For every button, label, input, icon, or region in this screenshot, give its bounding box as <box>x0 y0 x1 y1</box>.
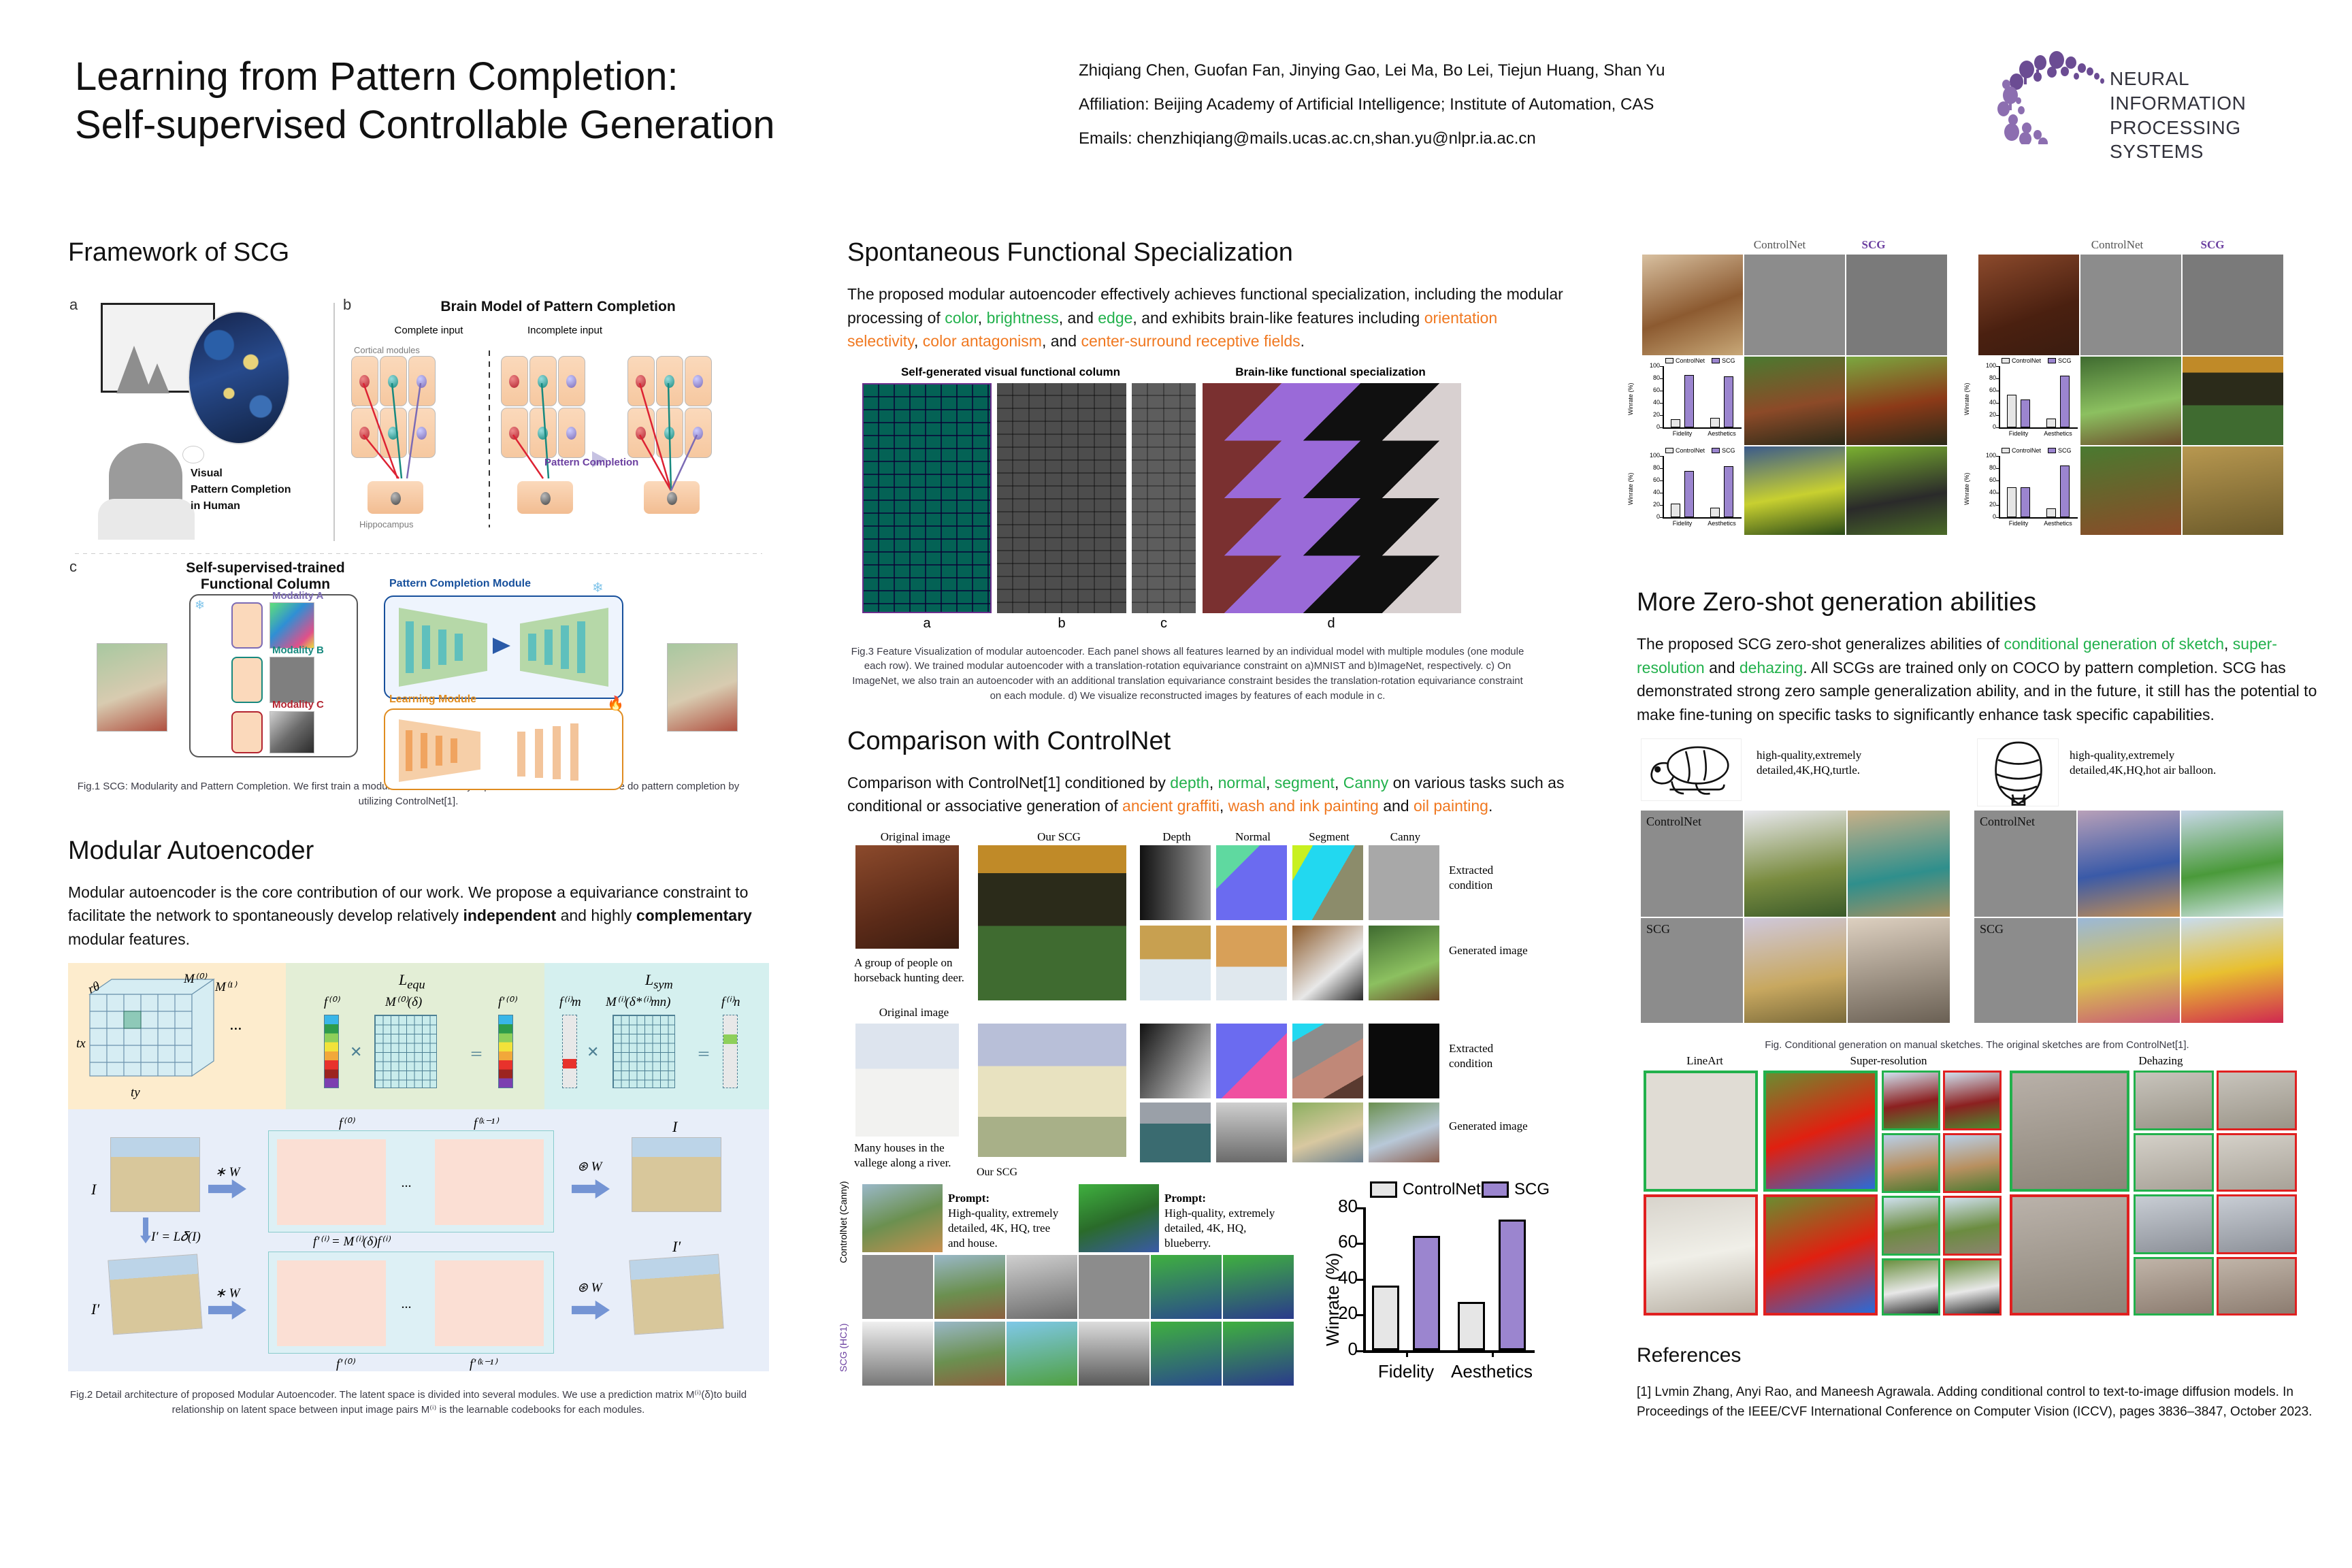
graffiti-deer-scg-cond <box>2183 255 2283 355</box>
chart-y-axis-label: Winrate (%) <box>1322 1252 1343 1345</box>
zeroshot-part-4: and <box>1705 659 1739 676</box>
depth-generated-2 <box>1140 1102 1211 1162</box>
modality-b-label: Modality B <box>272 644 324 656</box>
label-deconv-w-1: ⊛ W <box>577 1159 602 1175</box>
mini-x-tick-label: Fidelity <box>1997 430 2040 437</box>
mini-y-tick-label: 20 <box>1645 411 1660 418</box>
top-header-controlnet-1: ControlNet <box>1732 238 1827 252</box>
dehaze-room-input <box>2134 1194 2214 1254</box>
mae-text-2: and highly <box>556 906 636 924</box>
comparison-part-2: , <box>1209 774 1218 791</box>
mini-y-axis-label: Winrate (%) <box>1627 472 1634 505</box>
chart-x-tick <box>1406 1350 1408 1357</box>
output-image-thumbnail <box>667 643 738 732</box>
modality-a-label: Modality A <box>272 590 323 602</box>
graffiti-deer-original <box>1978 255 2079 355</box>
mini-y-tick <box>1996 427 1999 428</box>
mini-legend-label-controlnet: ControlNet <box>2012 447 2041 454</box>
figure-2-caption: Fig.2 Detail architecture of proposed Mo… <box>68 1388 749 1418</box>
feature-vector-f0 <box>324 1015 339 1088</box>
balloon-gen-scg-1 <box>2078 918 2180 1023</box>
mini-y-tick <box>1996 468 1999 469</box>
functional-column-title-1: Self-supervised-trained <box>170 560 361 576</box>
brain-model-title: Brain Model of Pattern Completion <box>361 299 755 315</box>
mini-y-axis <box>1999 366 2000 427</box>
equals-icon-1: ＝ <box>470 1043 483 1063</box>
row-label-extracted-1: Extracted condition <box>1449 863 1531 894</box>
top-header-scg-2: SCG <box>2172 238 2253 252</box>
label-image-I: I <box>91 1181 96 1198</box>
input-image-thumbnail <box>97 643 167 732</box>
mini-x-axis <box>1999 427 2078 429</box>
mini-y-tick <box>1996 517 1999 518</box>
mini-y-tick <box>1996 480 1999 481</box>
neurips-logo: NEURAL INFORMATION PROCESSING SYSTEMS <box>1994 49 2314 144</box>
mae-text-3: modular features. <box>68 930 190 948</box>
specialization-part-8: , <box>914 332 923 350</box>
mini-y-tick-label: 0 <box>1645 513 1660 520</box>
fig3-right-title: Brain-like functional specialization <box>1188 365 1473 379</box>
scg-row-img-3 <box>1007 1322 1077 1386</box>
input-image-I <box>110 1137 200 1212</box>
latent-dots-top: ... <box>402 1175 412 1191</box>
specialization-part-10: , and <box>1042 332 1081 350</box>
modality-c-image <box>269 711 314 753</box>
mini-y-tick-label: 0 <box>1981 423 1996 430</box>
mini-y-tick-label: 20 <box>1645 501 1660 508</box>
fig3-panel-b-grid <box>997 383 1126 613</box>
mini-legend-label-controlnet: ControlNet <box>1676 357 1705 364</box>
mini-y-tick-label: 100 <box>1981 362 1996 369</box>
mini-y-tick-label: 60 <box>1645 387 1660 393</box>
projection-arrows-1 <box>351 371 433 487</box>
title-line-1: Learning from Pattern Completion: <box>75 53 1041 101</box>
lineart-input-rose <box>1644 1071 1758 1192</box>
sketch-prompt-turtle: high-quality,extremely detailed,4K,HQ,tu… <box>1757 748 1920 778</box>
mini-y-tick <box>1996 456 1999 457</box>
label-m0: M⁽⁰⁾ <box>184 971 206 987</box>
zeroshot-body: The proposed SCG zero-shot generalizes a… <box>1637 632 2317 726</box>
mini-y-axis <box>1663 456 1664 517</box>
sketch-generation-grid: high-quality,extremely detailed,4K,HQ,tu… <box>1637 738 2317 1079</box>
human-shoulders <box>98 499 195 540</box>
pcm-flow-arrow <box>493 638 510 654</box>
figure-1-scg: a b c Visual Pattern Completion in Human… <box>68 282 769 772</box>
chart-legend-label-controlnet: ControlNet <box>1403 1180 1481 1199</box>
section-heading-comparison: Comparison with ControlNet <box>847 727 1569 756</box>
author-block: Zhiqiang Chen, Guofan Fan, Jinying Gao, … <box>1079 63 1909 165</box>
mini-bar-controlnet-fidelity <box>1671 419 1680 427</box>
balloon-gen-controlnet-1 <box>2078 811 2180 917</box>
turtle-gen-scg-2 <box>1848 918 1950 1023</box>
neurips-logo-text: NEURAL INFORMATION PROCESSING SYSTEMS <box>2110 67 2314 164</box>
emails-line: Emails: chenzhiqiang@mails.ucas.ac.cn,sh… <box>1079 131 1909 147</box>
comparison-part-10: , <box>1220 797 1228 815</box>
projection-arrows-2 <box>501 371 583 487</box>
mini-x-axis <box>1663 517 1742 519</box>
author-list: Zhiqiang Chen, Guofan Fan, Jinying Gao, … <box>1079 63 1909 79</box>
segment-generated-1 <box>1292 926 1363 1000</box>
sparse-vector-fn <box>723 1015 738 1088</box>
chart-y-tick-label: 80 <box>1325 1196 1358 1217</box>
mini-y-tick-label: 80 <box>1645 464 1660 471</box>
multiply-icon-1: ✕ <box>350 1043 362 1061</box>
dehaze-gym-output <box>2217 1071 2297 1130</box>
zeroshot-part-0: The proposed SCG zero-shot generalizes a… <box>1637 635 2004 653</box>
winrate-bar-chart: 020406080Winrate (%)FidelityAestheticsCo… <box>1310 1175 1541 1399</box>
mini-legend-swatch-controlnet <box>1665 358 1673 363</box>
col-header-original: Original image <box>854 830 977 844</box>
sketch-figure-caption: Fig. Conditional generation on manual sk… <box>1637 1038 2317 1053</box>
balloon-line-drawing <box>1978 739 2059 807</box>
dehaze-hall-input <box>2134 1133 2214 1192</box>
superres-mandrill-output <box>1763 1194 1878 1316</box>
mini-bar-scg-fidelity <box>2021 487 2030 517</box>
fig3-label-d: d <box>1314 616 1348 632</box>
mini-y-axis-label: Winrate (%) <box>1963 472 1970 505</box>
mini-y-tick <box>1660 427 1663 428</box>
label-recon-Ip: I′ <box>672 1238 681 1256</box>
horse-gen-controlnet-2 <box>1744 446 1845 535</box>
task-header-lineart: LineArt <box>1644 1054 1766 1068</box>
mini-legend-label-controlnet: ControlNet <box>2012 357 2041 364</box>
mini-y-axis <box>1663 366 1664 427</box>
dehaze-bike-input <box>2010 1071 2129 1192</box>
cave-horse-controlnet-cond <box>1744 255 1845 355</box>
turtle-gen-controlnet-1 <box>1744 811 1846 917</box>
mini-bar-scg-fidelity <box>2021 399 2030 427</box>
section-heading-specialization: Spontaneous Functional Specialization <box>847 238 1569 267</box>
mini-y-tick <box>1660 403 1663 404</box>
mini-y-tick-label: 60 <box>1981 476 1996 483</box>
mini-y-tick-label: 80 <box>1981 464 1996 471</box>
mini-legend-swatch-scg <box>2048 448 2056 453</box>
chart-bar-scg-aesthetics <box>1499 1220 1526 1350</box>
col-header-canny: Canny <box>1369 830 1442 844</box>
superres-path-input <box>1882 1196 1940 1256</box>
segment-generated-2 <box>1292 1102 1363 1162</box>
superres-aqueduct-input <box>1882 1133 1940 1193</box>
modality-b-image <box>269 657 314 703</box>
canny-row-img-6 <box>1223 1255 1294 1319</box>
chart-legend-swatch-scg <box>1482 1181 1509 1198</box>
section-heading-references: References <box>1637 1344 2317 1367</box>
top-header-controlnet-2: ControlNet <box>2070 238 2165 252</box>
mini-y-tick <box>1660 493 1663 493</box>
scg-row-img-2 <box>934 1322 1005 1386</box>
sketch-prompt-balloon: high-quality,extremely detailed,4K,HQ,ho… <box>2070 748 2240 778</box>
side-label-scg-hc1: SCG (HC1) <box>838 1323 849 1372</box>
cave-horse-original <box>1642 255 1743 355</box>
scg-row-img-1 <box>862 1322 933 1386</box>
panel-letter-c: c <box>69 558 77 576</box>
reconstructed-image-Ip <box>629 1254 723 1335</box>
turtle-line-drawing <box>1641 739 1742 802</box>
dehaze-gym-input <box>2134 1071 2214 1130</box>
visual-pc-label-1: Visual <box>191 468 223 480</box>
mini-y-tick <box>1660 456 1663 457</box>
mini-bar-scg-aesthetics <box>1724 376 1733 427</box>
mini-legend-label-scg: SCG <box>1722 447 1735 454</box>
comparison-part-11: wash and ink painting <box>1228 797 1379 815</box>
mini-x-tick-label: Fidelity <box>1997 520 2040 527</box>
mini-y-tick <box>1660 517 1663 518</box>
zeroshot-part-5: dehazing <box>1739 659 1803 676</box>
mini-legend-label-scg: SCG <box>2058 447 2072 454</box>
comparison-part-14: . <box>1488 797 1492 815</box>
turtle-gen-controlnet-2 <box>1848 811 1950 917</box>
chart-legend-swatch-controlnet <box>1370 1181 1397 1198</box>
figure-2-modular-autoencoder: M⁽⁰⁾ M⁽¹⁾ rθ tx ty ... Lequ f⁽⁰⁾ M⁽⁰⁾(δ)… <box>68 963 769 1371</box>
mini-bar-scg-aesthetics <box>2060 376 2070 427</box>
mini-bar-controlnet-aesthetics <box>2046 419 2056 428</box>
mini-x-tick-label: Aesthetics <box>2036 430 2080 437</box>
specialization-part-2: , <box>978 309 987 327</box>
mini-y-tick-label: 0 <box>1645 423 1660 430</box>
figure-divider-horizontal <box>75 553 762 554</box>
mini-y-tick-label: 80 <box>1981 374 1996 381</box>
original-image-graffiti <box>855 845 959 949</box>
poster-root: Learning from Pattern Completion: Self-s… <box>0 0 2352 1568</box>
label-tx: tx <box>76 1036 86 1051</box>
figure-divider-vertical <box>333 303 335 541</box>
label-m0-delta: M⁽⁰⁾(δ) <box>385 994 422 1010</box>
turtle-sketch-icon <box>1641 738 1742 801</box>
label-ty: ty <box>131 1085 140 1100</box>
dehaze-hall-output <box>2217 1133 2297 1192</box>
mini-y-tick <box>1660 505 1663 506</box>
complete-input-label: Complete input <box>361 325 497 336</box>
segment-condition-1 <box>1292 845 1363 920</box>
comparison-part-7: Canny <box>1343 774 1388 791</box>
col-header-normal: Normal <box>1216 830 1290 844</box>
fig3-panel-c-grid <box>1132 383 1196 613</box>
mini-bar-controlnet-fidelity <box>2007 395 2016 427</box>
chart-bar-scg-fidelity <box>1413 1236 1440 1350</box>
mini-x-axis <box>1999 517 2078 519</box>
superres-zebra-input <box>1882 1258 1940 1316</box>
mini-legend-label-scg: SCG <box>2058 357 2072 364</box>
label-lequ: Lequ <box>399 971 425 992</box>
incomplete-input-label: Incomplete input <box>497 325 633 336</box>
canny-generated-1 <box>1369 926 1439 1000</box>
latent-stack-fp0 <box>277 1260 386 1346</box>
latent-stack-f0 <box>277 1139 386 1225</box>
affiliation-line: Affiliation: Beijing Academy of Artifici… <box>1079 97 1909 113</box>
label-recon-I: I <box>672 1118 677 1136</box>
poster-header: Learning from Pattern Completion: Self-s… <box>0 0 2352 218</box>
canny-generated-2 <box>1369 1102 1439 1162</box>
specialization-part-1: color <box>945 309 978 327</box>
top-header-scg-1: SCG <box>1833 238 1914 252</box>
label-f0: f⁽⁰⁾ <box>324 994 339 1010</box>
label-conv-w-2: ∗ W <box>215 1286 240 1301</box>
col-header-segment: Segment <box>1292 830 1366 844</box>
canny-row-img-3 <box>1007 1255 1077 1319</box>
dehaze-sofa-output <box>2217 1257 2297 1316</box>
mini-y-tick-label: 60 <box>1981 387 1996 393</box>
label-transform: I′ = L𝛿(I) <box>151 1230 201 1245</box>
modular-ae-body: Modular autoencoder is the core contribu… <box>68 881 769 951</box>
latent-stack-fpk1 <box>435 1260 544 1346</box>
snowflake-icon-column: ❄ <box>195 598 205 612</box>
label-f0-top: f⁽⁰⁾ <box>339 1115 354 1131</box>
row-label-scg-turtle: SCG <box>1646 922 1670 936</box>
canny-condition-2 <box>1369 1024 1439 1098</box>
horse-gen-scg-2 <box>1846 446 1947 535</box>
scg-row-img-4 <box>1079 1322 1149 1386</box>
mini-y-tick <box>1660 468 1663 469</box>
normal-generated-2 <box>1216 1102 1287 1162</box>
comparison-part-12: and <box>1379 797 1414 815</box>
balloon-gen-controlnet-2 <box>2181 811 2283 917</box>
normal-generated-1 <box>1216 926 1287 1000</box>
equals-icon-2: ＝ <box>697 1043 710 1063</box>
mini-legend-swatch-controlnet <box>1665 448 1673 453</box>
normal-condition-2 <box>1216 1024 1287 1098</box>
chart-y-tick-label: 60 <box>1325 1231 1358 1252</box>
mini-bar-controlnet-aesthetics <box>1710 508 1720 517</box>
comparison-body: Comparison with ControlNet[1] conditione… <box>847 771 1569 818</box>
chart-x-axis <box>1363 1350 1535 1353</box>
learning-module-label: Learning Module <box>389 693 476 706</box>
row-label-scg-balloon: SCG <box>1980 922 2004 936</box>
row-label-generated-1: Generated image <box>1449 943 1531 959</box>
deer-gen-controlnet-2 <box>2080 446 2181 535</box>
projection-arrows-3 <box>627 371 716 493</box>
mini-x-tick-label: Fidelity <box>1661 430 1704 437</box>
label-lsym: Lsym <box>645 971 673 992</box>
mini-y-tick <box>1996 493 1999 493</box>
prompt-1-title: Prompt: <box>948 1192 990 1205</box>
label-fm-i: f⁽ⁱ⁾m <box>559 994 581 1010</box>
cave-horse-scg-cond <box>1846 255 1947 355</box>
panel-letter-a: a <box>69 296 78 314</box>
mini-y-tick-label: 100 <box>1645 362 1660 369</box>
mini-chart-horse-canny: 020406080100Winrate (%)FidelityAesthetic… <box>1642 357 1743 445</box>
task-results-grid: LineArt Super-resolution Dehazing <box>1637 1054 2317 1326</box>
mini-y-tick <box>1660 480 1663 481</box>
ourscg-image-deer <box>978 845 1126 1000</box>
mini-bar-controlnet-aesthetics <box>1710 418 1720 427</box>
modality-c-label: Modality C <box>272 699 324 710</box>
mini-y-tick <box>1660 415 1663 416</box>
mini-bar-scg-fidelity <box>1684 471 1694 517</box>
label-fn-i: f⁽ⁱ⁾n <box>721 994 740 1010</box>
page-title: Learning from Pattern Completion: Self-s… <box>75 53 1041 150</box>
canny-condition-1 <box>1369 845 1439 920</box>
mini-legend-swatch-controlnet <box>2002 358 2010 363</box>
comparison-part-0: Comparison with ControlNet[1] conditione… <box>847 774 1170 791</box>
mini-y-tick <box>1996 391 1999 391</box>
deer-gen-scg-2 <box>2183 446 2283 535</box>
mini-legend-swatch-controlnet <box>2002 448 2010 453</box>
superres-mandrill-input <box>1763 1071 1878 1192</box>
col-header-ourscg: Our SCG <box>981 830 1137 844</box>
mini-y-tick <box>1996 378 1999 379</box>
deer-gen-scg-1 <box>2183 357 2283 445</box>
title-line-2: Self-supervised Controllable Generation <box>75 101 1041 150</box>
label-conv-w-1: ∗ W <box>215 1164 240 1180</box>
original-image-houses <box>855 1024 959 1137</box>
specialization-part-11: center-surround receptive fields <box>1081 332 1300 350</box>
dehaze-room-output <box>2217 1194 2297 1254</box>
specialization-part-5: edge <box>1098 309 1132 327</box>
fig3-label-c: c <box>1147 616 1181 632</box>
modality-b-neurons <box>231 657 263 703</box>
visual-pc-label-3: in Human <box>191 500 240 512</box>
zeroshot-part-2: , <box>2224 635 2233 653</box>
mini-y-tick-label: 80 <box>1645 374 1660 381</box>
chart-x-tick <box>1492 1350 1494 1357</box>
snowflake-icon-pcm: ❄ <box>592 579 604 596</box>
mae-bold-independent: independent <box>463 906 556 924</box>
comparison-grid: Original image Our SCG Depth Normal Segm… <box>847 830 1548 1164</box>
section-heading-modular-ae: Modular Autoencoder <box>68 836 769 866</box>
thought-bubble-small <box>182 446 204 463</box>
flame-icon: 🔥 <box>607 695 624 712</box>
mini-y-tick-label: 100 <box>1645 452 1660 459</box>
comparison-part-1: depth <box>1170 774 1209 791</box>
superres-barn-input <box>1882 1071 1940 1130</box>
latent-dots-bottom: ... <box>402 1296 412 1312</box>
logo-line-2: PROCESSING SYSTEMS <box>2110 116 2314 165</box>
mini-y-tick-label: 40 <box>1645 489 1660 495</box>
label-m1: M⁽¹⁾ <box>215 979 236 995</box>
specialization-part-12: . <box>1301 332 1305 350</box>
mini-y-axis-label: Winrate (%) <box>1627 382 1634 415</box>
specialization-body: The proposed modular autoencoder effecti… <box>847 282 1569 353</box>
prompt-1-body: High-quality, extremely detailed, 4K, HQ… <box>948 1207 1058 1249</box>
mini-y-tick <box>1996 366 1999 367</box>
prompt-2: Prompt: High-quality, extremely detailed… <box>1164 1191 1286 1251</box>
mini-x-tick-label: Aesthetics <box>1700 430 1744 437</box>
mini-chart-horse-scg: 020406080100Winrate (%)FidelityAesthetic… <box>1642 446 1743 535</box>
zeroshot-top-grid: ControlNet SCG ControlNet SCG 0204060801… <box>1637 238 2317 578</box>
mini-y-axis <box>1999 456 2000 517</box>
logo-line-1: NEURAL INFORMATION <box>2110 67 2314 116</box>
zeroshot-part-1: conditional generation of sketch <box>2004 635 2225 653</box>
row-label-controlnet-balloon: ControlNet <box>1980 815 2035 829</box>
segment-condition-2 <box>1292 1024 1363 1098</box>
mini-legend-swatch-scg <box>1712 448 1720 453</box>
column-right: ControlNet SCG ControlNet SCG 0204060801… <box>1637 238 2317 1422</box>
chart-x-tick-label: Aesthetics <box>1437 1361 1546 1382</box>
chart-legend-label-scg: SCG <box>1514 1180 1550 1199</box>
mini-y-axis-label: Winrate (%) <box>1963 382 1970 415</box>
chart-y-axis <box>1363 1207 1366 1350</box>
modality-a-image <box>269 602 314 649</box>
label-mi-delta: M⁽ⁱ⁾(δ*⁽ⁱ⁾mn) <box>606 994 671 1010</box>
row-label-generated-2: Generated image <box>1449 1119 1531 1134</box>
reference-entry-1: [1] Lvmin Zhang, Anyi Rao, and Maneesh A… <box>1637 1382 2317 1422</box>
balloon-gen-scg-2 <box>2181 918 2283 1023</box>
ourscg-image-houses <box>978 1024 1126 1157</box>
mini-legend-label-scg: SCG <box>1722 357 1735 364</box>
chart-bar-controlnet-aesthetics <box>1458 1302 1485 1350</box>
label-deconv-w-2: ⊛ W <box>577 1280 602 1296</box>
prompt-2-body: High-quality, extremely detailed, 4K, HQ… <box>1164 1207 1275 1249</box>
side-label-controlnet-canny: ControlNet (Canny) <box>838 1181 849 1263</box>
starry-night-image <box>188 311 290 444</box>
sparse-vector-fm-active <box>563 1059 576 1069</box>
canny-row-img-4 <box>1079 1255 1149 1319</box>
modality-a-neurons <box>231 602 263 649</box>
superres-zebra-output <box>1943 1258 2002 1316</box>
panel-b-dashed-divider <box>489 350 490 527</box>
column-left: Framework of SCG a b c Visual Pattern Co… <box>68 238 769 1418</box>
superres-aqueduct-output <box>1943 1133 2002 1193</box>
